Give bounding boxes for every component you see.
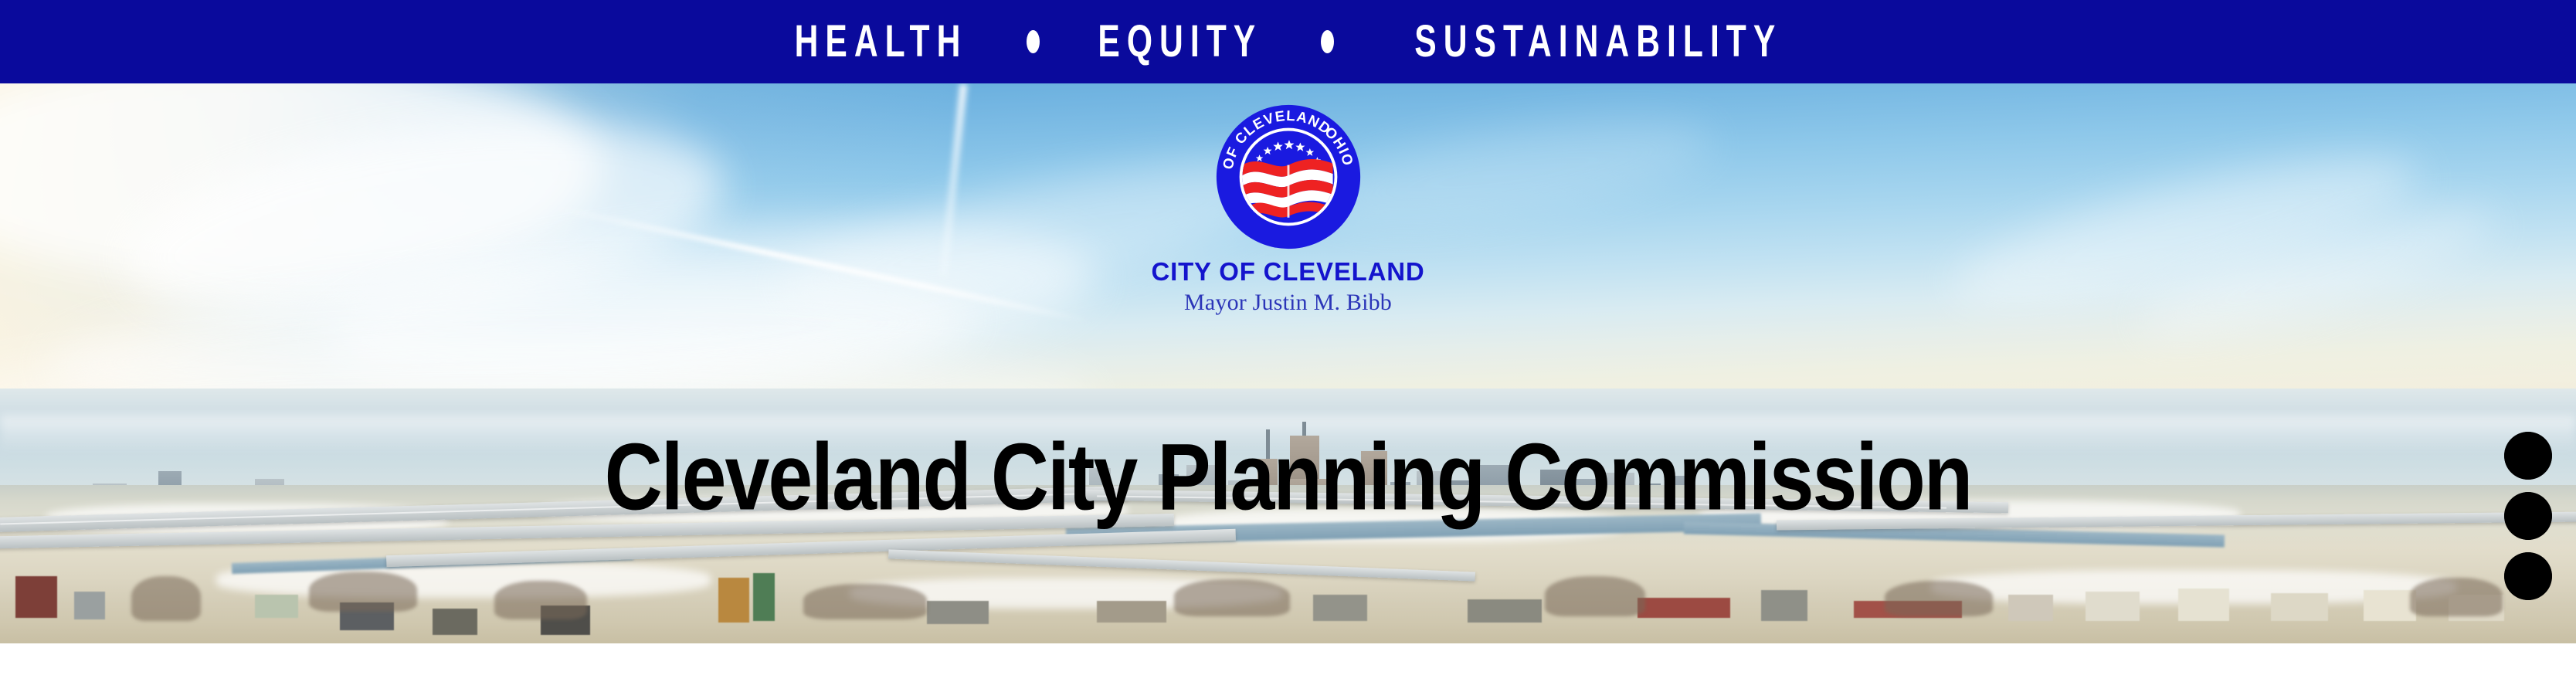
social-link-youtube[interactable]	[2504, 432, 2552, 480]
instagram-icon	[2504, 492, 2552, 540]
city-of-cleveland-seal[interactable]: CITY OF CLEVELAND OHIO	[1214, 103, 1363, 251]
social-link-instagram[interactable]	[2504, 492, 2552, 540]
tagline-bar: HEALTH EQUITY SUSTAINABILITY	[0, 0, 2576, 83]
flag-graphic	[1242, 159, 1332, 218]
bottom-white-strip	[0, 643, 2576, 682]
tagline-word-equity: EQUITY	[1098, 19, 1262, 64]
foreground-city	[0, 485, 2576, 643]
tagline-word-health: HEALTH	[794, 19, 967, 64]
cleveland-city-planning-commission-header: HEALTH EQUITY SUSTAINABILITY	[0, 0, 2576, 682]
social-links-rail	[2504, 432, 2552, 600]
city-of-cleveland-seal-icon: CITY OF CLEVELAND OHIO	[1214, 103, 1363, 251]
social-link-facebook[interactable]	[2504, 552, 2552, 600]
tagline-word-sustainability: SUSTAINABILITY	[1414, 19, 1782, 64]
youtube-icon	[2504, 432, 2552, 480]
bullet-separator-icon	[1027, 30, 1040, 53]
facebook-icon	[2504, 552, 2552, 600]
bullet-separator-icon	[1321, 30, 1334, 53]
tagline-inner: HEALTH EQUITY SUSTAINABILITY	[776, 22, 1822, 62]
